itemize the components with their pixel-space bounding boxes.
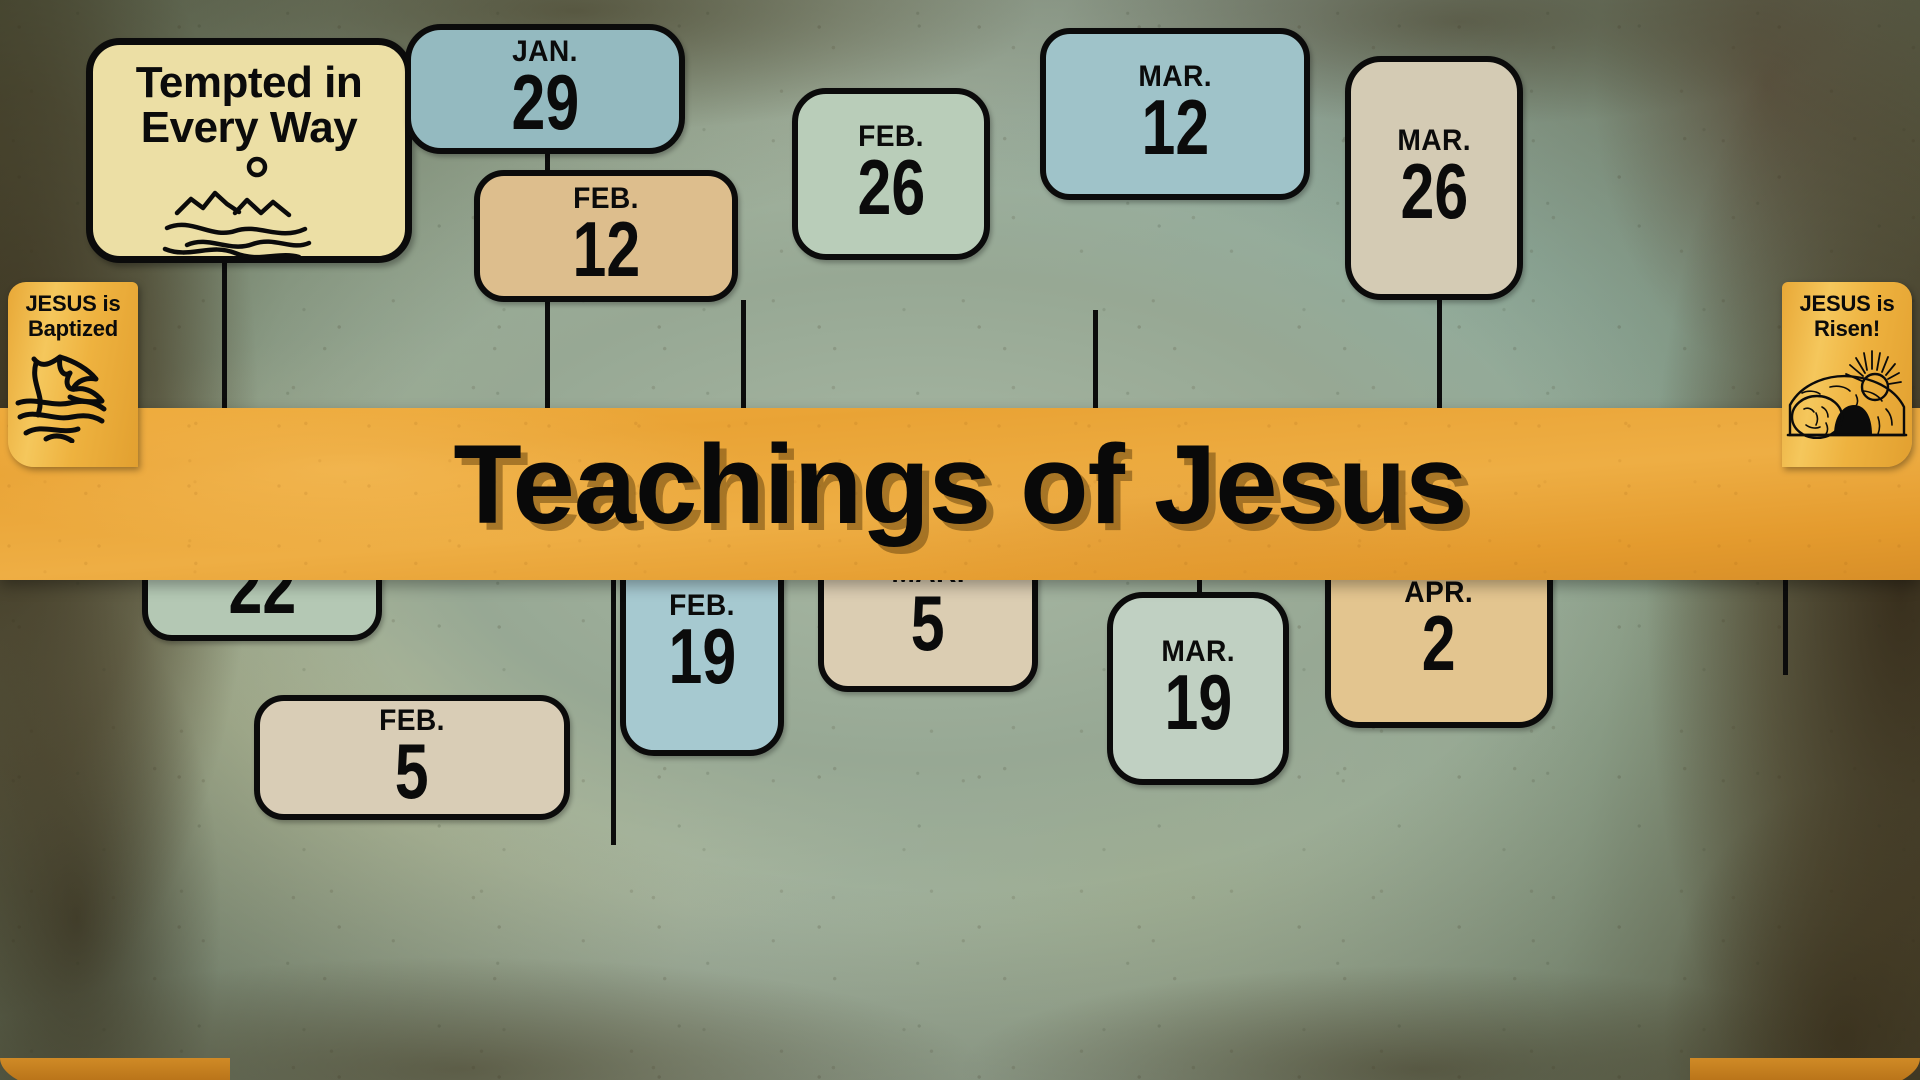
banner-tab-left-line-2: Baptized: [28, 317, 118, 342]
date-card-day: 5: [395, 732, 429, 810]
date-card-day: 19: [1164, 663, 1232, 741]
date-card-day: 2: [1422, 604, 1456, 682]
banner-tab-jesus-is-risen[interactable]: JESUS is Risen!: [1782, 282, 1912, 467]
banner-tab-jesus-is-baptized[interactable]: JESUS is Baptized: [8, 282, 138, 467]
date-card-day: 19: [668, 617, 736, 695]
date-card-day: 12: [572, 210, 640, 288]
date-card-day: 26: [1400, 152, 1468, 230]
banner-curl-left: [0, 1058, 230, 1080]
dove-over-water-icon: [12, 347, 134, 443]
banner-teachings-of-jesus: Teachings of Jesus: [0, 408, 1920, 580]
date-card-day: 5: [911, 584, 945, 662]
timeline-infographic: Tempted in Every Way JAN. 29 FEB. 12 FEB…: [0, 0, 1920, 1080]
date-card-feb-26[interactable]: FEB. 26: [792, 88, 990, 260]
date-card-day: 12: [1141, 88, 1209, 166]
hero-card-tempted-in-every-way[interactable]: Tempted in Every Way: [86, 38, 412, 263]
date-card-mar-12[interactable]: MAR. 12: [1040, 28, 1310, 200]
banner-tab-right-line-2: Risen!: [1814, 317, 1880, 342]
date-card-jan-29[interactable]: JAN. 29: [405, 24, 685, 154]
banner-curl-right: [1690, 1058, 1920, 1080]
date-card-feb-5[interactable]: FEB. 5: [254, 695, 570, 820]
stem-feb-5: [611, 545, 616, 845]
date-card-day: 29: [511, 63, 579, 141]
empty-tomb-sunrise-icon: [1786, 347, 1908, 439]
date-card-mar-26[interactable]: MAR. 26: [1345, 56, 1523, 300]
banner-tab-right-line-1: JESUS is: [1799, 292, 1894, 317]
banner-tab-left-line-1: JESUS is: [25, 292, 120, 317]
page-title: Teachings of Jesus: [0, 420, 1920, 549]
hero-line-1: Tempted in: [136, 61, 362, 106]
date-card-mar-19[interactable]: MAR. 19: [1107, 592, 1289, 785]
date-card-day: 26: [857, 148, 925, 226]
hero-line-2: Every Way: [141, 106, 357, 151]
date-card-feb-12[interactable]: FEB. 12: [474, 170, 738, 302]
sun-over-mountains-and-water-icon: [149, 155, 349, 267]
